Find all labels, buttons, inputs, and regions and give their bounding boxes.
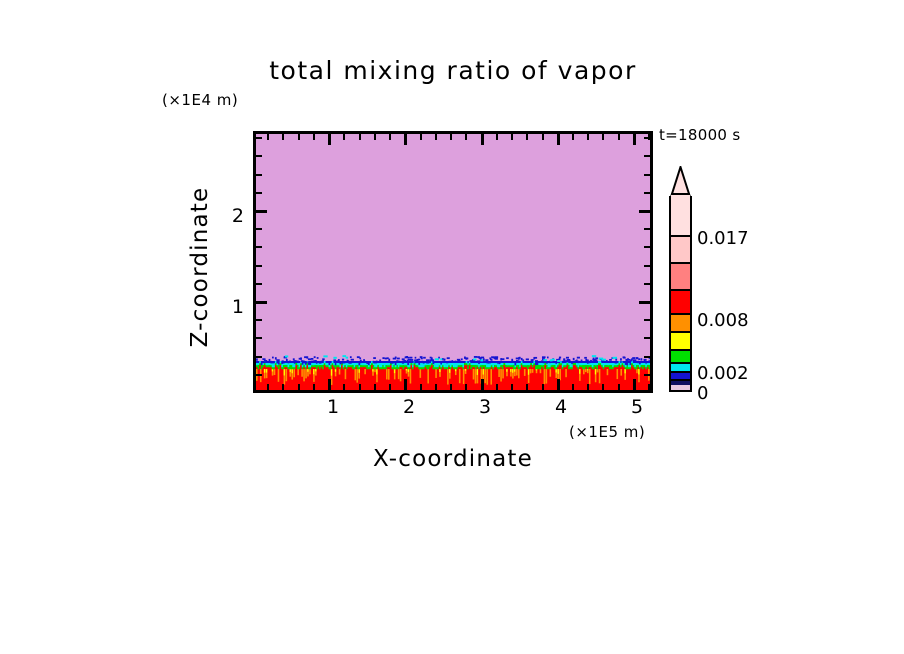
x-tick-bottom	[313, 384, 315, 390]
x-axis-unit-label: (×1E5 m)	[569, 423, 645, 441]
y-axis-title: Z-coordinate	[178, 154, 222, 380]
x-tick-label-1: 1	[318, 396, 348, 418]
y-tick-right	[639, 301, 650, 304]
x-tick-top	[526, 134, 528, 140]
x-tick-bottom	[374, 384, 376, 390]
x-tick-bottom	[435, 384, 437, 390]
x-tick-top	[313, 134, 315, 140]
y-tick-left	[256, 210, 267, 213]
x-tick-top	[435, 134, 437, 140]
time-annotation: t=18000 s	[659, 126, 740, 144]
y-tick-right	[644, 265, 650, 267]
x-tick-top	[404, 134, 407, 145]
x-tick-bottom	[267, 384, 269, 390]
x-tick-bottom	[450, 384, 452, 390]
x-tick-bottom	[328, 379, 331, 390]
x-tick-top	[572, 134, 574, 140]
x-tick-bottom	[633, 379, 636, 390]
x-tick-bottom	[343, 384, 345, 390]
x-tick-bottom	[298, 384, 300, 390]
y-tick-left	[256, 192, 262, 194]
x-tick-bottom	[557, 379, 560, 390]
x-tick-bottom	[618, 384, 620, 390]
y-tick-left	[256, 246, 262, 248]
y-tick-left	[256, 174, 262, 176]
y-tick-right	[644, 174, 650, 176]
y-tick-right	[644, 374, 650, 376]
y-tick-right	[644, 337, 650, 339]
x-tick-bottom	[496, 384, 498, 390]
y-axis-unit-label: (×1E4 m)	[162, 91, 238, 109]
colorbar-label-3: 0	[697, 383, 708, 404]
x-tick-label-4: 4	[546, 396, 576, 418]
colorbar-segment	[671, 385, 690, 390]
x-tick-bottom	[587, 384, 589, 390]
x-tick-top	[557, 134, 560, 145]
x-tick-top	[374, 134, 376, 140]
x-tick-top	[511, 134, 513, 140]
x-tick-top	[496, 134, 498, 140]
x-tick-top	[328, 134, 331, 145]
x-tick-bottom	[526, 384, 528, 390]
x-tick-top	[587, 134, 589, 140]
y-tick-left	[256, 301, 267, 304]
x-tick-bottom	[389, 384, 391, 390]
x-tick-bottom	[542, 384, 544, 390]
colorbar-label-0: 0.017	[697, 228, 749, 249]
y-tick-left	[256, 228, 262, 230]
x-tick-bottom	[481, 379, 484, 390]
x-tick-top	[267, 134, 269, 140]
x-axis-title: X-coordinate	[253, 446, 653, 472]
x-tick-top	[389, 134, 391, 140]
colorbar-segment	[671, 349, 690, 362]
x-tick-bottom	[359, 384, 361, 390]
y-tick-left	[256, 319, 262, 321]
colorbar-label-2: 0.002	[697, 363, 749, 384]
x-tick-bottom	[572, 384, 574, 390]
y-tick-right	[644, 283, 650, 285]
colorbar-segment	[671, 379, 690, 385]
colorbar	[669, 196, 692, 392]
x-tick-top	[481, 134, 484, 145]
colorbar-segment	[671, 193, 690, 235]
y-tick-left	[256, 137, 262, 139]
colorbar-segment	[671, 313, 690, 331]
field-background	[256, 134, 650, 390]
y-tick-right	[644, 192, 650, 194]
y-tick-right	[644, 228, 650, 230]
plot-area	[253, 131, 653, 393]
x-tick-bottom	[602, 384, 604, 390]
x-tick-top	[465, 134, 467, 140]
x-tick-label-2: 2	[394, 396, 424, 418]
x-tick-bottom	[648, 384, 650, 390]
x-tick-label-5: 5	[622, 396, 652, 418]
x-tick-bottom	[282, 384, 284, 390]
x-tick-top	[602, 134, 604, 140]
y-tick-right	[644, 319, 650, 321]
y-tick-left	[256, 374, 262, 376]
x-tick-top	[282, 134, 284, 140]
y-tick-left	[256, 356, 262, 358]
x-tick-bottom	[420, 384, 422, 390]
colorbar-segment	[671, 371, 690, 379]
y-tick-right	[644, 356, 650, 358]
x-tick-top	[298, 134, 300, 140]
y-tick-left	[256, 283, 262, 285]
x-tick-bottom	[404, 379, 407, 390]
y-tick-right	[644, 246, 650, 248]
y-tick-left	[256, 337, 262, 339]
y-tick-right	[644, 137, 650, 139]
x-tick-top	[359, 134, 361, 140]
colorbar-segment	[671, 289, 690, 313]
colorbar-label-1: 0.008	[697, 310, 749, 331]
y-tick-left	[256, 265, 262, 267]
colorbar-segment	[671, 262, 690, 289]
colorbar-segment	[671, 362, 690, 371]
figure-canvas: total mixing ratio of vapor (×1E4 m) t=1…	[0, 0, 904, 654]
x-tick-top	[343, 134, 345, 140]
x-tick-label-3: 3	[470, 396, 500, 418]
page-title: total mixing ratio of vapor	[253, 56, 653, 85]
y-axis-title-text: Z-coordinate	[187, 187, 213, 348]
colorbar-segment	[671, 235, 690, 262]
x-tick-top	[542, 134, 544, 140]
x-tick-top	[618, 134, 620, 140]
boundary-layer-red-band	[256, 368, 650, 390]
colorbar-segment	[671, 331, 690, 349]
y-tick-right	[639, 210, 650, 213]
x-tick-bottom	[511, 384, 513, 390]
x-tick-top	[450, 134, 452, 140]
x-tick-top	[633, 134, 636, 145]
x-tick-top	[420, 134, 422, 140]
y-tick-right	[644, 155, 650, 157]
x-tick-bottom	[465, 384, 467, 390]
y-tick-left	[256, 155, 262, 157]
